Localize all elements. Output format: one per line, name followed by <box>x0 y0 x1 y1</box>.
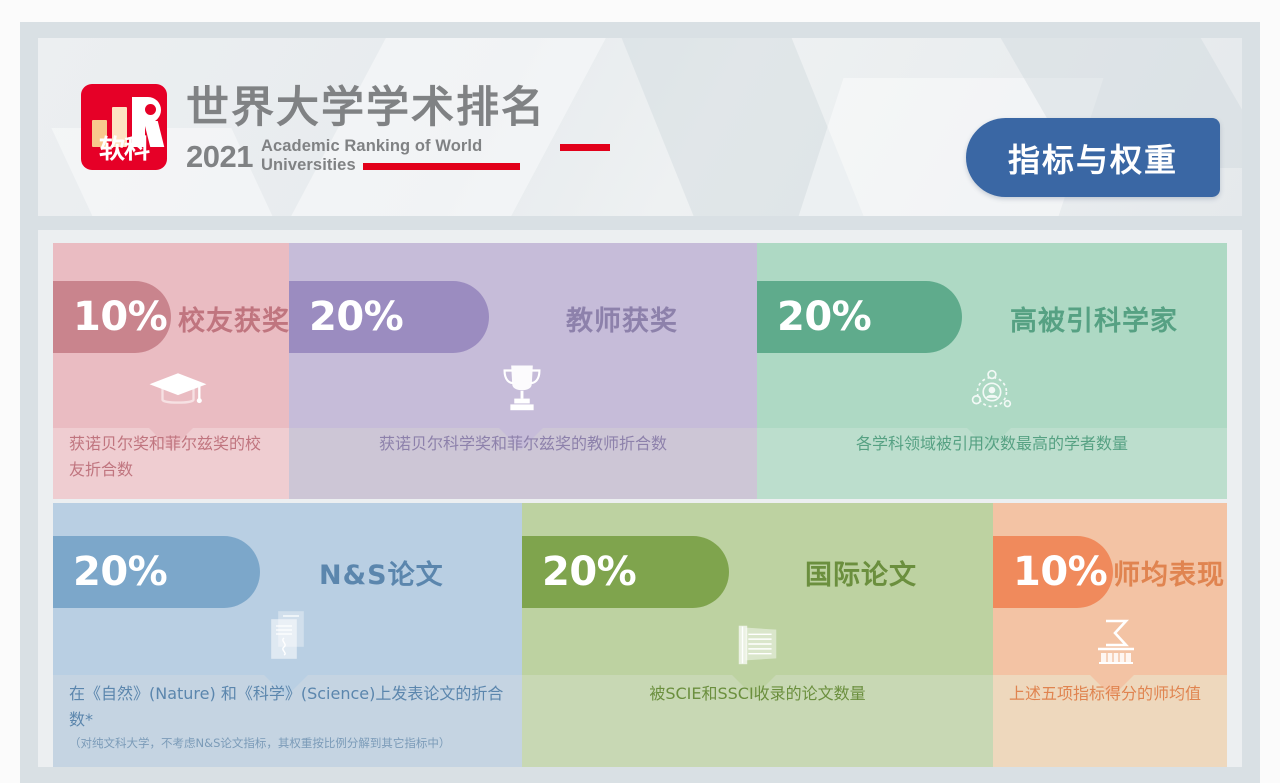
indicator-cell-faculty-award[interactable]: 20% 教师获奖 获诺贝尔科学奖和菲尔兹奖的教师折合数 <box>289 243 757 499</box>
indicator-category-label: 师均表现 <box>1113 553 1225 592</box>
title-block: 世界大学学术排名 2021 Academic Ranking of World … <box>186 86 546 175</box>
indicator-description: 获诺贝尔奖和菲尔兹奖的校友折合数 <box>69 431 274 484</box>
page-title-cn: 世界大学学术排名 <box>186 86 546 132</box>
indicator-category-label: 国际论文 <box>805 553 917 592</box>
weight-pill: 20% <box>522 536 729 608</box>
weight-pill: 10% <box>53 281 171 353</box>
indicator-cell-alumni-award[interactable]: 10% 校友获奖 获诺贝尔奖和菲尔兹奖的校友折合数 <box>53 243 289 499</box>
trophy-icon <box>491 355 553 417</box>
indicator-description: 在《自然》(Nature) 和《科学》(Science)上发表论文的折合数* <box>69 681 509 734</box>
indicator-category-label: N&S论文 <box>319 553 444 592</box>
header-panel: 软科 世界大学学术排名 2021 Academic Ranking of Wor… <box>38 38 1242 216</box>
indicators-weights-badge-label: 指标与权重 <box>1008 135 1178 181</box>
weight-pill: 20% <box>757 281 962 353</box>
indicator-description: 被SCIE和SSCI收录的论文数量 <box>522 681 993 707</box>
logo-wordmark: 软科 <box>81 137 167 163</box>
network-gear-icon <box>959 361 1021 423</box>
accent-rule-long <box>363 163 520 170</box>
page-title-en-line1: Academic Ranking of World <box>261 137 482 156</box>
indicator-category-label: 高被引科学家 <box>1010 299 1178 338</box>
weight-percent: 20% <box>73 549 167 595</box>
weight-pill: 20% <box>53 536 260 608</box>
indicator-description: 获诺贝尔科学奖和菲尔兹奖的教师折合数 <box>289 431 757 457</box>
indicators-weights-badge[interactable]: 指标与权重 <box>966 118 1220 197</box>
graduation-cap-icon <box>147 359 209 421</box>
weight-pill: 10% <box>993 536 1113 608</box>
weight-percent: 20% <box>542 549 636 595</box>
weight-percent: 20% <box>309 294 403 340</box>
indicator-category-label: 校友获奖 <box>178 299 289 338</box>
journals-icon <box>261 607 313 669</box>
weight-pill: 20% <box>289 281 489 353</box>
sigma-average-icon <box>1088 611 1144 669</box>
weight-percent: 10% <box>1013 549 1107 595</box>
softscience-logo: 软科 <box>81 84 167 170</box>
title-subline: 2021 Academic Ranking of World Universit… <box>186 137 546 176</box>
poster-frame: 软科 世界大学学术排名 2021 Academic Ranking of Wor… <box>20 22 1260 783</box>
accent-rule-short <box>560 144 610 151</box>
logo-r-hole <box>145 104 156 115</box>
weight-percent: 20% <box>777 294 871 340</box>
indicator-grid: 10% 校友获奖 获诺贝尔奖和菲尔兹奖的校友折合数 20% 教师获奖 <box>38 230 1242 767</box>
indicator-cell-per-capita[interactable]: 10% 师均表现 上述五项指标得分的师均值 <box>993 503 1227 767</box>
weight-percent: 10% <box>73 294 167 340</box>
indicator-description: 上述五项指标得分的师均值 <box>1009 681 1209 707</box>
papers-stack-icon <box>727 613 789 675</box>
indicator-cell-international-papers[interactable]: 20% 国际论文 被SCIE和SSCI收录的论文数量 <box>522 503 993 767</box>
indicator-cell-highly-cited[interactable]: 20% 高被引科学家 各学科领域被引用次数最高的学者数量 <box>757 243 1227 499</box>
indicator-cell-ns-papers[interactable]: 20% N&S论文 在《自然》(Nature) 和《科学》(Science)上发… <box>53 503 522 767</box>
indicator-description: 各学科领域被引用次数最高的学者数量 <box>757 431 1227 457</box>
edition-year: 2021 <box>186 137 253 172</box>
indicator-category-label: 教师获奖 <box>566 299 678 338</box>
title-en-wrap: Academic Ranking of World Universities <box>261 137 482 176</box>
indicator-footnote: （对纯文科大学，不考虑N&S论文指标，其权重按比例分解到其它指标中） <box>69 735 517 751</box>
